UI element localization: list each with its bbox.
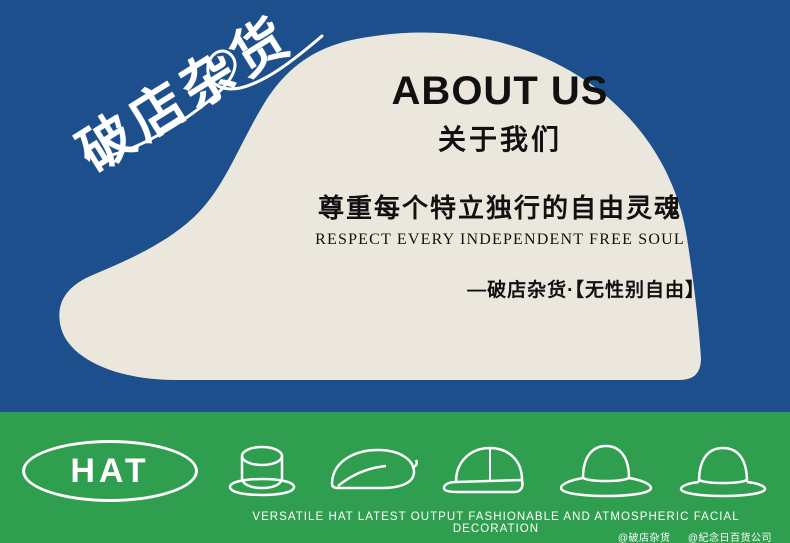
footer-credits: @破店杂货 @紀念日百货公司 xyxy=(604,529,772,543)
wide-brim-hat-icon xyxy=(557,438,655,500)
footer-credit-1: @破店杂货 xyxy=(618,533,671,543)
about-block: ABOUT US 关于我们 尊重每个特立独行的自由灵魂 RESPECT EVER… xyxy=(285,70,715,302)
hat-icon-row xyxy=(222,430,767,500)
hat-badge-label: HAT xyxy=(70,452,149,491)
slogan-cn: 尊重每个特立独行的自由灵魂 xyxy=(285,188,715,225)
bowler-hat-icon xyxy=(679,438,767,500)
hat-badge: HAT xyxy=(22,440,198,502)
signature-line: —破店杂货·【无性别自由】 xyxy=(285,275,715,302)
green-footer-band: HAT xyxy=(0,412,790,543)
bucket-hat-icon xyxy=(222,438,302,500)
footer-credit-2: @紀念日百货公司 xyxy=(688,533,772,543)
baseball-cap-icon xyxy=(442,438,534,500)
about-title-cn: 关于我们 xyxy=(285,118,715,158)
blue-panel: 破店杂货 ABOUT US 关于我们 尊重每个特立独行的自由灵魂 RESPECT… xyxy=(0,0,790,408)
beret-hat-icon xyxy=(326,438,418,500)
poster-root: 破店杂货 ABOUT US 关于我们 尊重每个特立独行的自由灵魂 RESPECT… xyxy=(0,0,790,543)
about-title-en: ABOUT US xyxy=(285,70,715,112)
slogan-en: RESPECT EVERY INDEPENDENT FREE SOUL xyxy=(285,231,715,249)
